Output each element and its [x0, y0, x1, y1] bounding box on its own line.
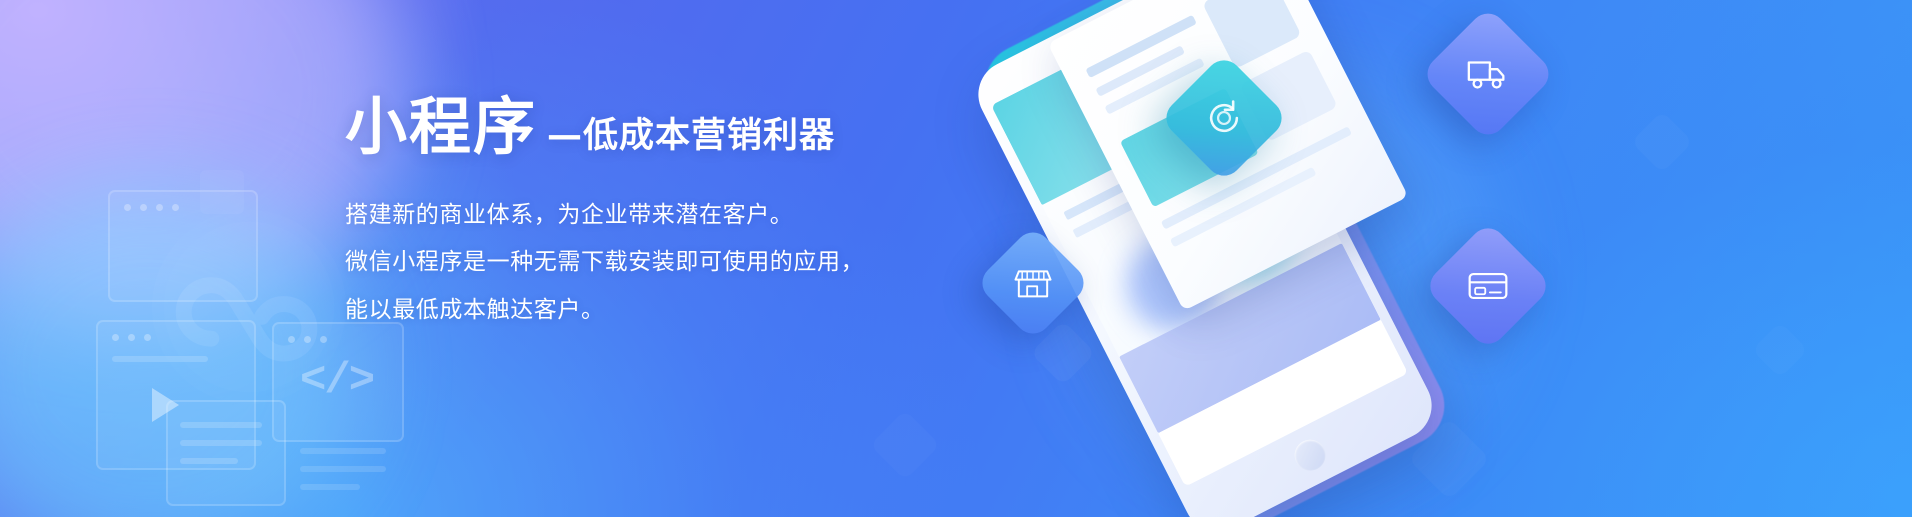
decor-rhombus — [1631, 111, 1693, 173]
sync-refresh-icon — [1202, 96, 1246, 140]
glow-top-left — [0, 0, 400, 320]
banner-description: 搭建新的商业体系，为企业带来潜在客户。 微信小程序是一种无需下载安装即可使用的应… — [345, 200, 965, 325]
credit-card-card — [1423, 221, 1553, 351]
window-dots-icon — [112, 334, 151, 341]
window-dots-icon — [124, 204, 179, 211]
credit-card-icon — [1466, 264, 1510, 308]
headline-main: 小程序 — [345, 96, 537, 158]
window-bar — [180, 422, 262, 428]
decor-square — [200, 170, 244, 214]
home-button — [1289, 434, 1331, 476]
hero-illustration — [1010, 0, 1570, 517]
glow-left — [0, 180, 360, 517]
page-title: 小程序 —低成本营销利器 — [345, 96, 965, 158]
browser-window-watermark — [108, 190, 258, 302]
storefront-icon — [1013, 263, 1053, 303]
marketing-banner: </> 小程序 —低成本营销利器 搭建新的商业体系，为企业带来潜在客户。 微信小… — [0, 0, 1912, 517]
window-bar — [180, 458, 238, 464]
list-window-watermark — [166, 400, 286, 506]
window-bar — [300, 484, 360, 490]
description-line: 微信小程序是一种无需下载安装即可使用的应用， — [345, 247, 965, 277]
play-icon — [152, 388, 179, 422]
window-bar — [300, 448, 386, 454]
window-bar — [180, 440, 262, 446]
code-brackets-icon: </> — [300, 356, 373, 406]
delivery-truck-icon — [1465, 51, 1511, 97]
decor-rhombus — [870, 410, 941, 481]
window-bar — [300, 466, 386, 472]
window-dots-icon — [288, 336, 327, 343]
video-card-watermark — [96, 320, 256, 470]
delivery-truck-card — [1420, 6, 1556, 142]
banner-copy: 小程序 —低成本营销利器 搭建新的商业体系，为企业带来潜在客户。 微信小程序是一… — [345, 96, 965, 342]
wechat-miniprogram-logo-icon — [150, 208, 348, 406]
description-line: 能以最低成本触达客户。 — [345, 295, 965, 325]
description-line: 搭建新的商业体系，为企业带来潜在客户。 — [345, 200, 965, 230]
decor-rhombus — [1752, 322, 1809, 379]
headline-tagline: —低成本营销利器 — [547, 119, 835, 158]
window-bar — [112, 356, 208, 362]
